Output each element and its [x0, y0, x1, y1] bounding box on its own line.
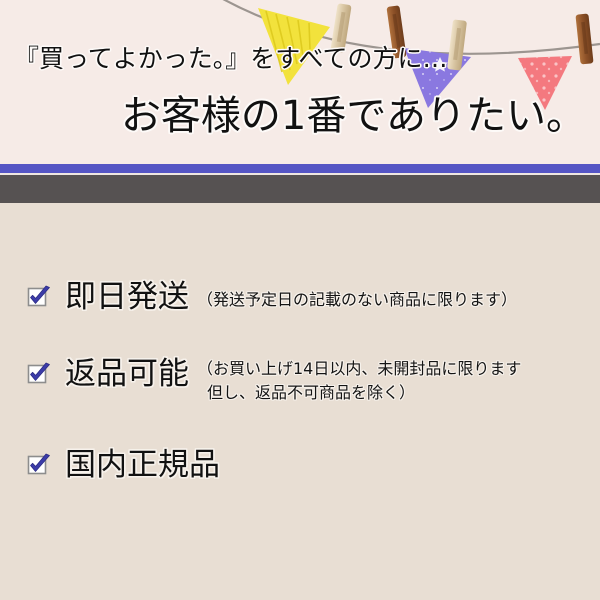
purple-divider-rule: [0, 164, 600, 173]
hero-subheadline: 『買ってよかった。』をすべての方に…: [14, 44, 448, 74]
feature-list: 即日発送 （発送予定日の記載のない商品に限ります） 返品可能 （お買い上げ14日…: [0, 203, 600, 600]
checked-checkbox-icon: [27, 285, 51, 309]
list-item: 即日発送 （発送予定日の記載のない商品に限ります）: [27, 278, 517, 316]
clothespin-4: [575, 13, 593, 64]
feature-text-group: 国内正規品: [65, 446, 220, 484]
feature-text-group: 返品可能 （お買い上げ14日以内、未開封品に限ります 但し、返品不可商品を除く）: [65, 355, 521, 405]
hero-headline: お客様の1番でありたい。: [121, 92, 586, 140]
list-item: 国内正規品: [27, 446, 220, 484]
hero-section: 『買ってよかった。』をすべての方に… お客様の1番でありたい。: [0, 0, 600, 164]
feature-note: （発送予定日の記載のない商品に限ります）: [197, 288, 517, 312]
feature-title: 返品可能: [65, 355, 189, 393]
tagline-bar: I want to be the Best 1 of customer.: [0, 175, 600, 203]
feature-title: 国内正規品: [65, 446, 220, 484]
feature-title: 即日発送: [65, 278, 189, 316]
feature-note-line-1: （お買い上げ14日以内、未開封品に限ります: [197, 359, 521, 378]
checked-checkbox-icon: [27, 362, 51, 386]
feature-note: （お買い上げ14日以内、未開封品に限ります 但し、返品不可商品を除く）: [197, 357, 521, 405]
checked-checkbox-icon: [27, 453, 51, 477]
feature-note-line-2: 但し、返品不可商品を除く）: [207, 381, 521, 405]
promo-banner-page: 『買ってよかった。』をすべての方に… お客様の1番でありたい。 I want t…: [0, 0, 600, 600]
clothespin-3: [447, 19, 467, 70]
feature-text-group: 即日発送 （発送予定日の記載のない商品に限ります）: [65, 278, 517, 316]
list-item: 返品可能 （お買い上げ14日以内、未開封品に限ります 但し、返品不可商品を除く）: [27, 355, 521, 405]
